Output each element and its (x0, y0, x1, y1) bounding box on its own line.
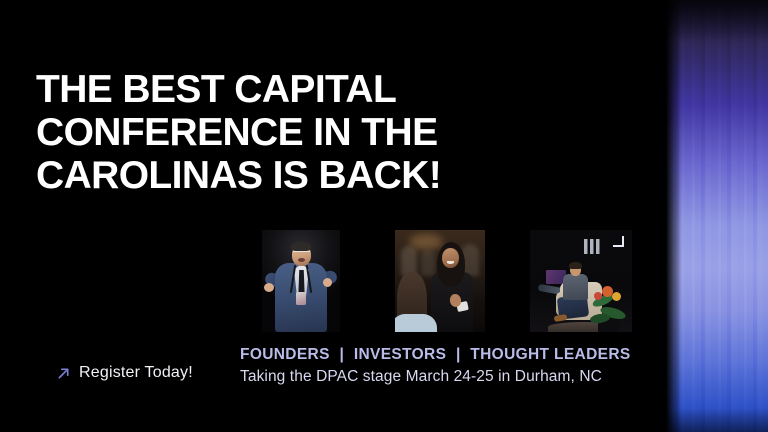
headline-line-3: CAROLINAS IS BACK! (36, 154, 506, 197)
speaker-mouth (298, 258, 305, 262)
photo-strip (262, 230, 632, 332)
arrow-up-right-icon (56, 366, 71, 381)
speaker-glasses (293, 251, 310, 256)
promo-slide: THE BEST CAPITAL CONFERENCE IN THE CAROL… (0, 0, 768, 432)
audience-item-investors: INVESTORS (354, 346, 446, 363)
register-today-button[interactable]: Register Today! (56, 364, 193, 382)
attendee-smile (447, 261, 454, 264)
speaker-right-hand (323, 278, 332, 287)
fireside-chat-scene (530, 230, 632, 332)
bloom-b (612, 292, 621, 301)
photo-speaker-on-stage (262, 230, 340, 332)
light-top-vignette (666, 0, 768, 42)
panelist-torso (563, 274, 588, 300)
background-attendee-b (421, 250, 435, 276)
audience-item-founders: FOUNDERS (240, 346, 330, 363)
panelist-hair (569, 262, 582, 269)
event-details: Taking the DPAC stage March 24-25 in Dur… (240, 368, 602, 386)
photo-fireside-chat (530, 230, 632, 332)
speaker-badge (296, 292, 306, 305)
headline-line-2: CONFERENCE IN THE (36, 111, 506, 154)
stage-logo-icon (584, 239, 602, 254)
light-left-feather (666, 0, 682, 432)
page-title: THE BEST CAPITAL CONFERENCE IN THE CAROL… (36, 68, 506, 197)
headline-line-1: THE BEST CAPITAL (36, 68, 506, 111)
networking-conversation-scene (395, 230, 485, 332)
speaker-left-hand (264, 283, 274, 292)
bloom-c (594, 292, 602, 300)
speaker-hair (291, 242, 311, 251)
light-bottom-vignette (666, 408, 768, 432)
audience-separator-1: | (334, 346, 349, 363)
floral-arrangement (590, 282, 630, 332)
foreground-listener-shoulder (395, 314, 437, 332)
audience-separator-2: | (451, 346, 466, 363)
register-today-label: Register Today! (79, 364, 193, 382)
stage-light-gradient (666, 0, 768, 432)
audience-item-thought-leaders: THOUGHT LEADERS (470, 346, 630, 363)
audience-line: FOUNDERS | INVESTORS | THOUGHT LEADERS (240, 346, 631, 364)
attendee-face (443, 249, 458, 268)
photo-networking-conversation (395, 230, 485, 332)
corner-bracket-icon (613, 236, 624, 247)
speaker-on-stage-scene (262, 230, 340, 332)
